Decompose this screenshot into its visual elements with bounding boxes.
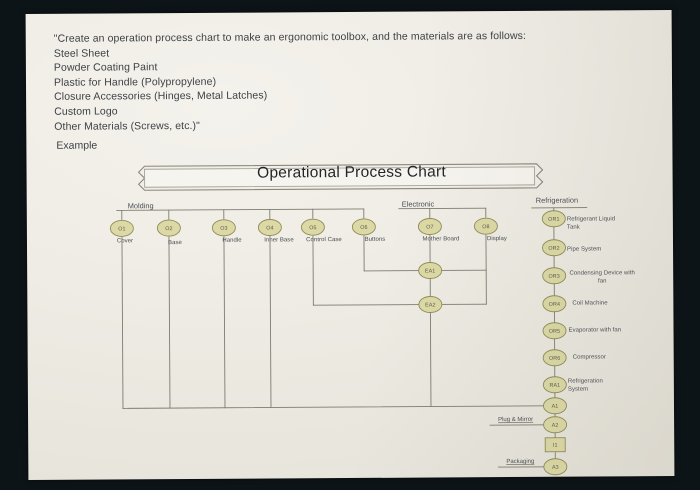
process-node-or3[interactable]: OR3 [543, 268, 566, 284]
process-node-or1[interactable]: OR1 [542, 211, 565, 227]
process-node-id: O8 [482, 224, 489, 230]
node-caption-or3: Condensing Device with fan [567, 270, 637, 286]
process-node-o8[interactable]: O8 [474, 218, 497, 234]
group-label-electronic: Electronic [402, 199, 435, 208]
process-node-ra1[interactable]: RA1 [543, 377, 566, 393]
node-caption-or6: Compressor [573, 354, 606, 362]
node-caption-o2: Base [168, 240, 182, 248]
process-node-or5[interactable]: OR5 [543, 323, 566, 339]
process-node-id: O2 [165, 226, 172, 232]
process-node-or2[interactable]: OR2 [542, 240, 565, 256]
node-caption-or5: Evaporator with fan [569, 327, 622, 335]
process-node-ea2[interactable]: EA2 [419, 296, 442, 312]
node-caption-or2: Pipe System [567, 246, 601, 254]
node-caption-o3: Handle [222, 238, 241, 246]
process-node-id: EA1 [425, 268, 436, 274]
process-node-id: OR3 [548, 274, 559, 280]
process-node-id: OR2 [548, 246, 559, 252]
process-node-o7[interactable]: O7 [418, 218, 441, 234]
process-node-id: O1 [118, 226, 125, 232]
process-node-o4[interactable]: O4 [258, 219, 281, 235]
process-node-id: A3 [552, 465, 559, 471]
process-node-id: O4 [266, 225, 273, 231]
node-caption-o5: Control Case [306, 237, 342, 245]
process-node-id: O7 [426, 224, 433, 230]
process-node-a3[interactable]: A3 [544, 459, 567, 475]
node-caption-or1: Refrigerant Liquid Tank [567, 216, 629, 232]
side-label-packaging: Packaging [506, 459, 534, 465]
process-node-id: O6 [360, 225, 367, 231]
process-node-o3[interactable]: O3 [212, 220, 235, 236]
node-caption-o8: Display [487, 236, 507, 244]
process-node-id: OR5 [549, 329, 560, 335]
process-node-id: O5 [309, 225, 316, 231]
process-node-id: EA2 [425, 302, 436, 308]
process-node-or4[interactable]: OR4 [543, 296, 566, 312]
process-node-a1[interactable]: A1 [543, 398, 566, 414]
process-node-id: A1 [552, 404, 559, 410]
process-node-id: RA1 [549, 383, 560, 389]
process-node-o5[interactable]: O5 [301, 219, 324, 235]
process-node-id: I1 [553, 443, 558, 449]
process-node-id: O3 [220, 226, 227, 232]
node-caption-o1: Cover [117, 238, 133, 246]
process-node-id: OR6 [549, 356, 560, 362]
node-caption-or4: Coil Machine [572, 300, 607, 308]
node-caption-o6: Buttons [365, 237, 386, 245]
process-node-or6[interactable]: OR6 [543, 350, 566, 366]
process-node-o1[interactable]: O1 [110, 220, 133, 236]
node-layer: O1O2O3O4O5O6O7O8EA1EA2OR1OR2OR3OR4OR5OR6… [110, 211, 567, 478]
group-label-molding: Molding [128, 201, 154, 210]
node-caption-o7: Mother Board [422, 236, 459, 244]
group-label-refrigeration: Refrigeration [536, 196, 578, 205]
node-caption-ra1: Refrigeration System [568, 378, 620, 394]
side-label-plug-mirror: Plug & Mirror [498, 417, 533, 423]
process-node-i1[interactable]: I1 [545, 438, 565, 452]
paper-sheet: "Create an operation process chart to ma… [26, 10, 675, 480]
process-node-id: OR1 [548, 217, 559, 223]
process-node-ea1[interactable]: EA1 [419, 262, 442, 278]
node-caption-o4: Inner Base [264, 237, 294, 245]
process-node-a2[interactable]: A2 [544, 417, 567, 433]
process-node-o6[interactable]: O6 [352, 219, 375, 235]
process-node-id: A2 [552, 423, 559, 429]
operational-process-chart: O1O2O3O4O5O6O7O8EA1EA2OR1OR2OR3OR4OR5OR6… [26, 10, 675, 480]
process-node-o2[interactable]: O2 [157, 220, 180, 236]
process-node-id: OR4 [549, 302, 560, 308]
page-title: Operational Process Chart [187, 163, 517, 183]
connector-lines [117, 208, 589, 470]
